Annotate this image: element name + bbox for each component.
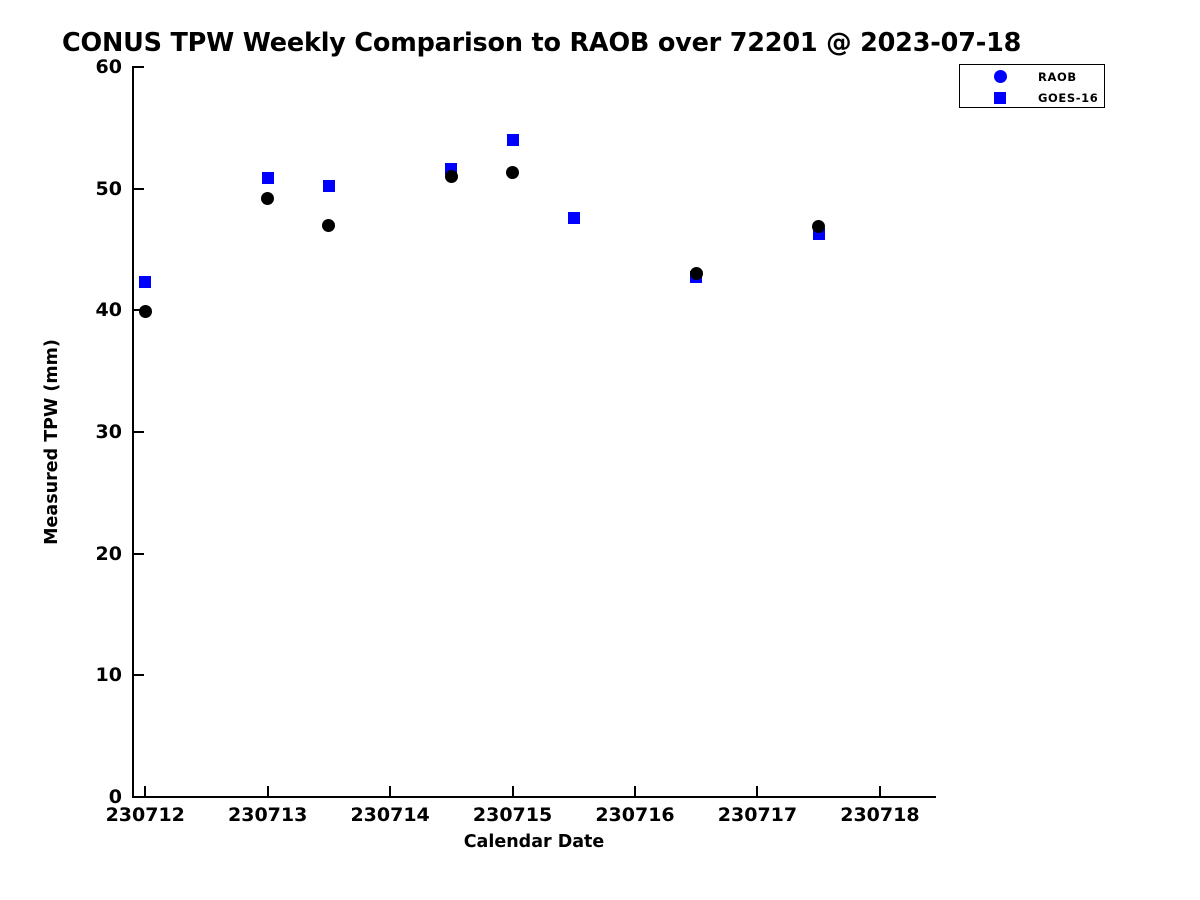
data-point-raob xyxy=(261,192,274,205)
data-point-goes16 xyxy=(139,276,151,288)
data-point-goes16 xyxy=(507,134,519,146)
x-tick-label: 230712 xyxy=(75,806,215,825)
y-tick-label: 50 xyxy=(60,180,122,199)
data-point-goes16 xyxy=(568,212,580,224)
chart-legend: RAOBGOES-16 xyxy=(959,64,1105,108)
y-tick-label: 40 xyxy=(60,301,122,320)
data-point-goes16 xyxy=(323,180,335,192)
data-point-raob xyxy=(445,170,458,183)
legend-entry-goes-16[interactable]: GOES-16 xyxy=(960,87,1104,108)
x-tick-label: 230715 xyxy=(443,806,583,825)
x-tick-label: 230718 xyxy=(810,806,950,825)
x-tick-label: 230716 xyxy=(565,806,705,825)
x-tick-label: 230717 xyxy=(687,806,827,825)
legend-label: GOES-16 xyxy=(1038,91,1098,105)
y-axis-label: Measured TPW (mm) xyxy=(42,292,62,592)
legend-entry-raob[interactable]: RAOB xyxy=(960,66,1104,87)
x-axis-label: Calendar Date xyxy=(133,832,935,852)
x-tick-label: 230713 xyxy=(198,806,338,825)
data-point-raob xyxy=(139,305,152,318)
y-tick-label: 60 xyxy=(60,58,122,77)
plot-area xyxy=(133,67,935,797)
x-tick-label: 230714 xyxy=(320,806,460,825)
chart-figure: CONUS TPW Weekly Comparison to RAOB over… xyxy=(0,0,1200,900)
y-tick-label: 10 xyxy=(60,666,122,685)
y-tick-label: 30 xyxy=(60,423,122,442)
y-tick-label: 20 xyxy=(60,545,122,564)
chart-title: CONUS TPW Weekly Comparison to RAOB over… xyxy=(62,28,1021,58)
data-point-raob xyxy=(322,219,335,232)
data-point-raob xyxy=(690,267,703,280)
data-point-raob xyxy=(812,220,825,233)
data-point-goes16 xyxy=(262,172,274,184)
legend-label: RAOB xyxy=(1038,70,1077,84)
legend-circle-icon xyxy=(994,70,1007,83)
data-point-raob xyxy=(506,166,519,179)
legend-square-icon xyxy=(994,92,1006,104)
